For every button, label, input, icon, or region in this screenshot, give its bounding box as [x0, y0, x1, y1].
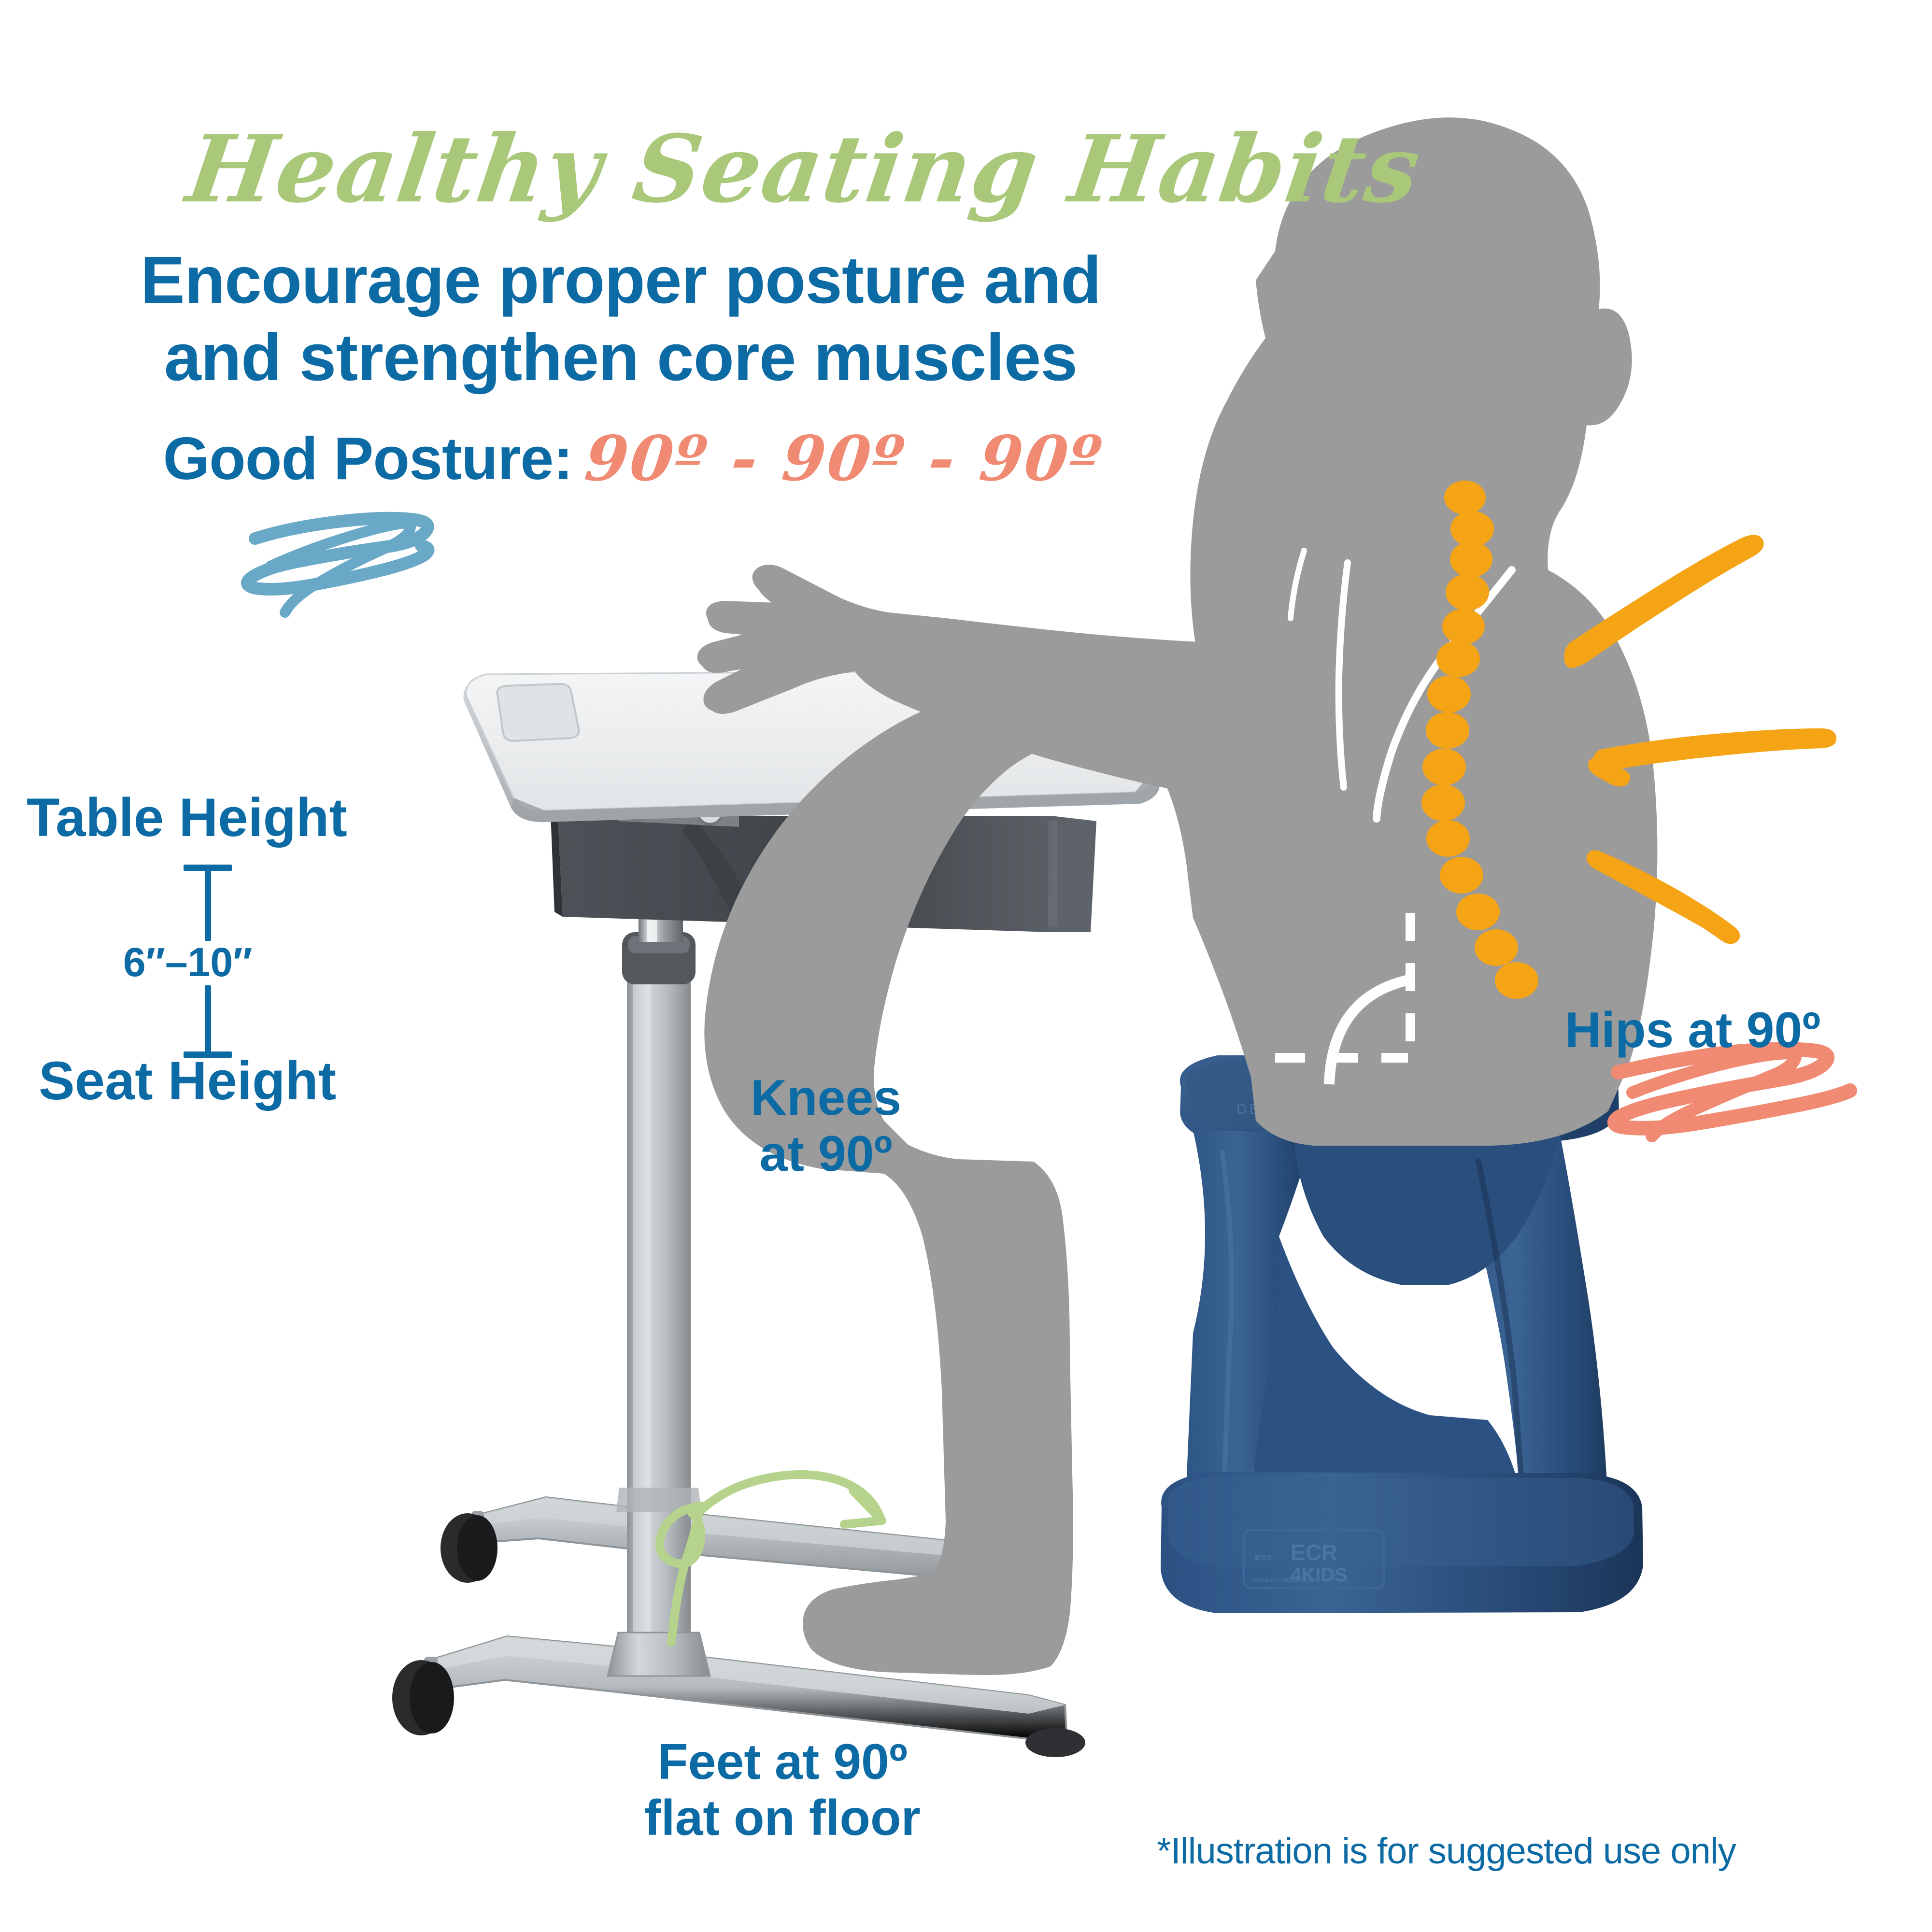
good-posture-row: Good Posture:90º - 90º - 90º: [106, 423, 1159, 495]
silhouette-arm: [697, 560, 1591, 816]
desk-tabletop: [464, 670, 1160, 822]
stool-inner-web: [1251, 1236, 1517, 1488]
headline: Encourage proper posture and and strengt…: [106, 241, 1135, 396]
svg-text:www.ecr4kids.com: www.ecr4kids.com: [1251, 1576, 1316, 1584]
silhouette-shoulder-seam: [1339, 563, 1348, 787]
desk-release-lever: [682, 816, 773, 954]
headline-line-2: and strengthen core muscles: [106, 319, 1135, 396]
coral-scribble-underline-icon: [1615, 1049, 1850, 1128]
desk-mount-plate: [618, 792, 739, 827]
desk-column: [608, 980, 710, 1676]
stool-brand-emboss: ▦▦▦ ECR 4KIDS www.ecr4kids.com: [1244, 1530, 1384, 1588]
desk-storage-box: [551, 814, 1096, 932]
svg-text:▦▦▦: ▦▦▦: [1255, 1553, 1274, 1561]
stool-seat: [1180, 1054, 1619, 1144]
good-posture-label: Good Posture:: [163, 426, 573, 492]
table-height-label: Table Height: [27, 787, 347, 848]
desk-front-foot: [425, 1636, 1066, 1739]
silhouette-arm-seam: [1377, 570, 1512, 819]
desk-rear-caster: [440, 1511, 497, 1583]
feet-callout: Feet at 90º flat on floor: [599, 1734, 966, 1847]
knees-callout: Knees at 90º: [724, 1070, 927, 1182]
blue-scribble-underline-icon: [247, 518, 428, 589]
height-gap-range: 6″–10″: [123, 939, 252, 985]
good-posture-value: 90º - 90º - 90º: [582, 423, 1107, 495]
hips-callout: Hips at 90º: [1565, 1002, 1820, 1058]
stool-base: [1161, 1472, 1643, 1613]
svg-text:ECR: ECR: [1291, 1540, 1337, 1565]
disclaimer-text: *Illustration is for suggested use only: [1157, 1831, 1736, 1872]
dashed-right-angle-hip-icon: [1275, 913, 1413, 1084]
knees-callout-line-1: Knees: [724, 1070, 927, 1126]
stool-waist: [1294, 1133, 1560, 1285]
stool-left-leg: [1186, 1130, 1314, 1497]
desk-rear-foot: [471, 1497, 1020, 1582]
motion-mark-middle: [1593, 728, 1837, 771]
feet-callout-line-1: Feet at 90º: [599, 1734, 966, 1790]
headline-line-1: Encourage proper posture and: [106, 241, 1135, 319]
motion-mark-top: [1564, 551, 1735, 668]
stool-right-leg: [1449, 1133, 1608, 1512]
silhouette-neck-seam: [1291, 551, 1304, 618]
desk-front-caster: [392, 1657, 454, 1735]
feet-callout-line-2: flat on floor: [599, 1790, 966, 1846]
motion-mark-bottom: [1587, 850, 1740, 944]
silhouette-hand: [701, 571, 850, 714]
knees-callout-line-2: at 90º: [724, 1126, 927, 1182]
seat-height-label: Seat Height: [39, 1051, 336, 1111]
infographic-canvas: DESIGNED FOR SEATING USE ONLY ▦▦▦ ECR 4K…: [0, 0, 1932, 1932]
script-title: Healthy Seating Habits: [182, 123, 1113, 216]
desk-height-adjust: [622, 802, 696, 984]
svg-text:4KIDS: 4KIDS: [1291, 1564, 1348, 1586]
dashed-right-angle-knee-icon: [988, 1065, 1111, 1169]
desk-rear-glide: [1025, 1728, 1085, 1757]
stool-seat-emboss-text: DESIGNED FOR SEATING USE ONLY: [1236, 1101, 1560, 1117]
